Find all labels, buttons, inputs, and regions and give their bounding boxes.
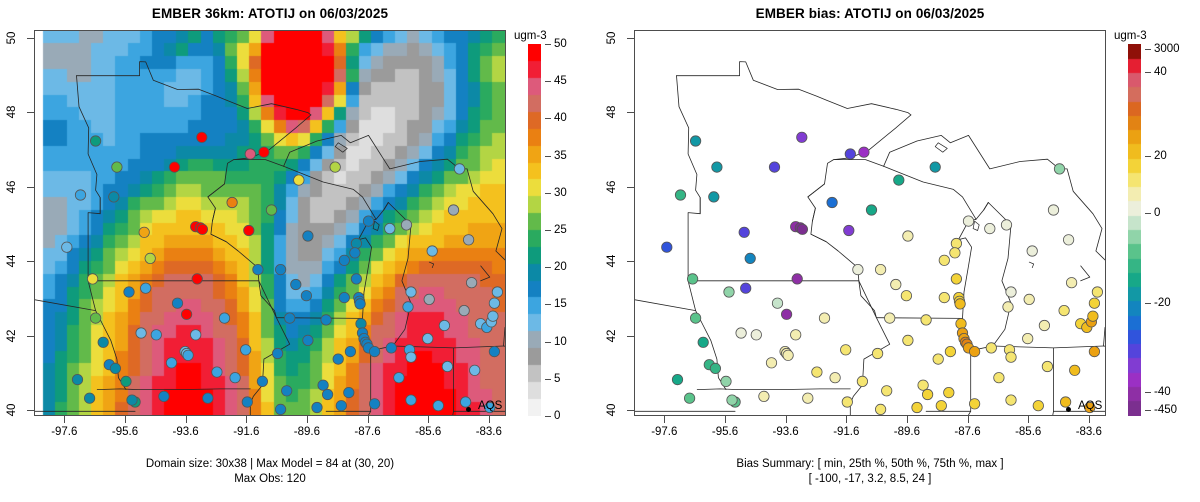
model-map-overlay [35,31,505,415]
x-tick-label: -87.6 [338,426,398,438]
y-tick-label: 42 [606,326,618,346]
x-tick-label: -83.6 [1059,426,1119,438]
colorbar-tick-label: -40 [1154,386,1171,398]
panel-model-caption-line1: Domain size: 30x38 | Max Model = 84 at (… [0,458,540,470]
x-tick-label: -89.6 [277,426,337,438]
panel-bias-caption-line1: Bias Summary: [ min, 25th %, 50th %, 75t… [600,458,1140,470]
x-tick-label: -97.6 [34,426,94,438]
colorbar-tick-label: 50 [554,38,567,50]
colorbar-tick-label: 40 [554,112,567,124]
colorbar-tick-label: 10 [554,336,567,348]
aqs-legend-dot-model [466,407,471,412]
colorbar-tick-label: 45 [554,75,567,87]
colorbar-bias-ticks: 300040200-20-40-450 [1145,44,1195,416]
colorbar-tick-label: 35 [554,150,567,162]
panel-model-plot-area [34,30,506,416]
colorbar-tick-label: 20 [1154,150,1167,162]
panel-bias-plot-area [634,30,1106,416]
y-tick-label: 48 [606,102,618,122]
y-tick-label: 44 [6,251,18,271]
y-tick-label: 40 [606,400,618,420]
colorbar-bias-strip [1128,44,1141,416]
x-tick-label: -95.6 [695,426,755,438]
x-tick-label: -85.6 [998,426,1058,438]
colorbar-tick-label: 40 [1154,66,1167,78]
colorbar-tick-label: -450 [1154,404,1177,416]
y-tick-label: 50 [6,28,18,48]
x-tick-label: -87.6 [938,426,998,438]
y-tick-label: 48 [6,102,18,122]
colorbar-tick-label: 5 [554,373,560,385]
colorbar-tick-label: -20 [1154,297,1171,309]
x-tick-label: -97.6 [634,426,694,438]
colorbar-model-ticks: 50454035302520151050 [545,44,595,416]
x-tick-label: -85.6 [398,426,458,438]
x-tick-label: -89.6 [877,426,937,438]
colorbar-bias [1128,44,1141,416]
panel-bias-title: EMBER bias: ATOTIJ on 06/03/2025 [600,6,1140,21]
x-tick-label: -83.6 [459,426,519,438]
aqs-legend-label-model: AQS [478,400,502,412]
panel-bias-caption-line2: [ -100, -17, 3.2, 8.5, 24 ] [600,473,1140,485]
y-tick-label: 40 [6,400,18,420]
y-tick-label: 44 [606,251,618,271]
colorbar-tick-label: 0 [1154,207,1160,219]
figure-root: EMBER 36km: ATOTIJ on 06/03/2025 4042444… [0,0,1200,502]
bias-map-overlay [635,31,1105,415]
x-tick-label: -91.6 [216,426,276,438]
colorbar-bias-unit: ugm-3 [1114,30,1174,42]
colorbar-tick-label: 20 [554,261,567,273]
x-tick-label: -95.6 [95,426,155,438]
y-tick-label: 46 [606,177,618,197]
y-tick-label: 50 [606,28,618,48]
colorbar-tick-label: 0 [554,410,560,422]
y-tick-label: 46 [6,177,18,197]
aqs-legend-dot-bias [1066,407,1071,412]
panel-model: EMBER 36km: ATOTIJ on 06/03/2025 4042444… [0,0,600,502]
x-tick-label: -93.6 [756,426,816,438]
colorbar-tick-label: 30 [554,187,567,199]
x-tick-label: -93.6 [156,426,216,438]
x-tick-label: -91.6 [816,426,876,438]
colorbar-tick-label: 15 [554,298,567,310]
colorbar-tick-label: 3000 [1154,43,1180,55]
colorbar-model-strip [528,44,541,416]
colorbar-tick-label: 25 [554,224,567,236]
aqs-legend-label-bias: AQS [1078,400,1102,412]
colorbar-model [528,44,541,416]
y-tick-label: 42 [6,326,18,346]
panel-bias: EMBER bias: ATOTIJ on 06/03/2025 4042444… [600,0,1200,502]
panel-model-title: EMBER 36km: ATOTIJ on 06/03/2025 [0,6,540,21]
panel-model-caption-line2: Max Obs: 120 [0,473,540,485]
